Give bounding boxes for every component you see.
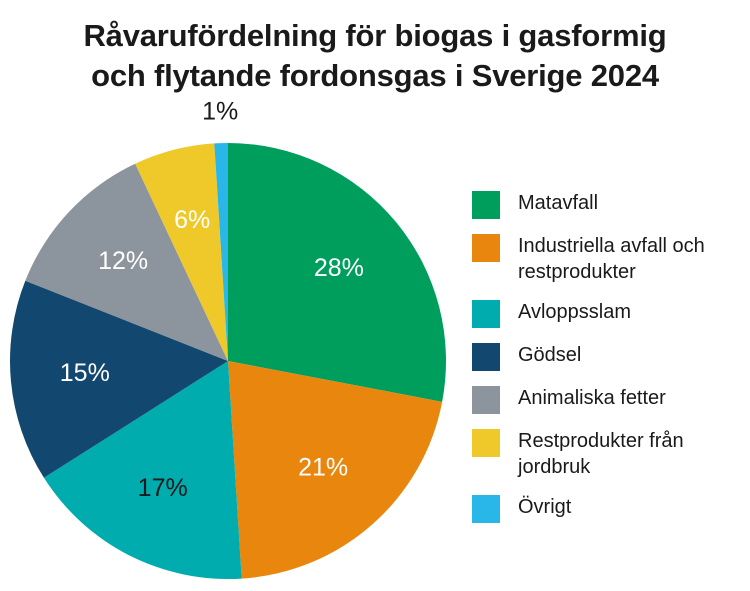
pie-plot-area: 28%21%17%15%12%6%1% [0, 100, 460, 591]
legend-color-swatch [472, 386, 500, 414]
chart-title: Råvarufördelning för biogas i gasformig … [0, 16, 750, 96]
legend-color-swatch [472, 495, 500, 523]
pie-slice-label: 21% [298, 454, 348, 482]
pie-slice-label: 28% [314, 254, 364, 282]
legend-item[interactable]: Animaliska fetter [472, 385, 740, 414]
chart-title-line-2: och flytande fordonsgas i Sverige 2024 [0, 56, 750, 96]
pie-slice-label: 1% [202, 100, 238, 126]
legend-item-label: Matavfall [518, 190, 598, 216]
legend-item[interactable]: Restprodukter från jordbruk [472, 428, 740, 480]
chart-title-line-1: Råvarufördelning för biogas i gasformig [0, 16, 750, 56]
pie-slice-label: 6% [174, 206, 210, 234]
legend-item-label: Restprodukter från jordbruk [518, 428, 728, 480]
pie-chart-figure: Råvarufördelning för biogas i gasformig … [0, 0, 750, 591]
legend-item[interactable]: Övrigt [472, 494, 740, 523]
legend-item[interactable]: Industriella avfall och restprodukter [472, 233, 740, 285]
pie-slice-label: 12% [98, 247, 148, 275]
legend-item-label: Avloppsslam [518, 299, 631, 325]
pie-slice-label: 17% [138, 474, 188, 502]
pie-svg: 28%21%17%15%12%6%1% [0, 100, 460, 591]
legend-item-label: Övrigt [518, 494, 571, 520]
chart-legend: MatavfallIndustriella avfall och restpro… [472, 190, 740, 523]
legend-item[interactable]: Gödsel [472, 342, 740, 371]
legend-color-swatch [472, 300, 500, 328]
pie-slice-label: 15% [60, 359, 110, 387]
legend-item-label: Animaliska fetter [518, 385, 666, 411]
legend-item-label: Gödsel [518, 342, 581, 368]
legend-color-swatch [472, 191, 500, 219]
legend-item-label: Industriella avfall och restprodukter [518, 233, 728, 285]
legend-color-swatch [472, 234, 500, 262]
legend-item[interactable]: Avloppsslam [472, 299, 740, 328]
legend-color-swatch [472, 429, 500, 457]
legend-color-swatch [472, 343, 500, 371]
legend-item[interactable]: Matavfall [472, 190, 740, 219]
